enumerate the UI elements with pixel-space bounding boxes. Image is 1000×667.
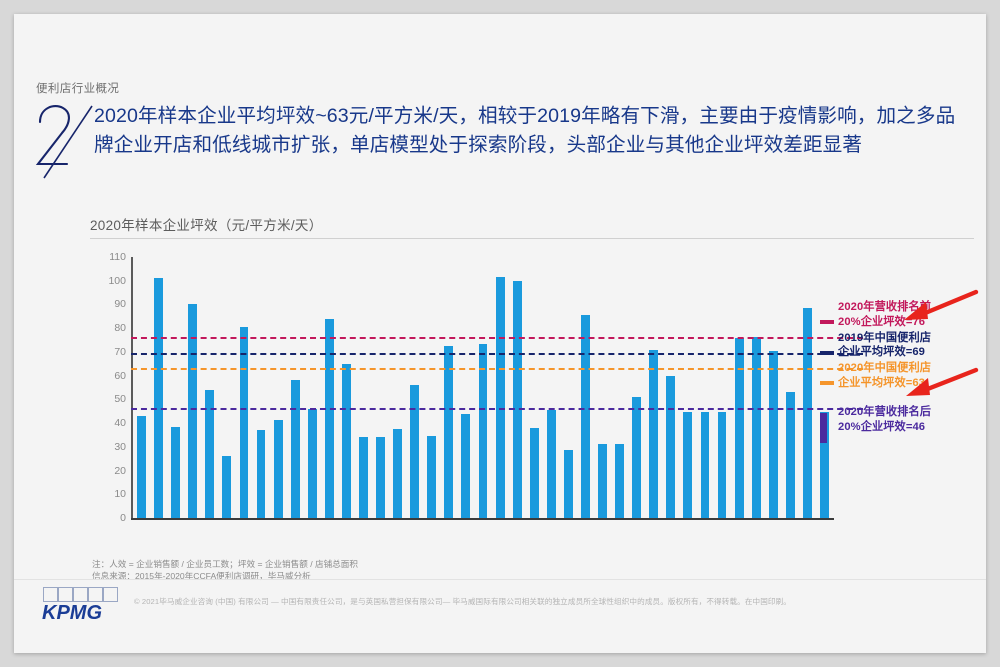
reference-line — [131, 408, 863, 410]
bar — [615, 444, 624, 518]
bar — [649, 350, 658, 518]
bar — [325, 319, 334, 518]
bar — [444, 346, 453, 518]
bar — [410, 385, 419, 518]
legend-marker-icon — [820, 320, 834, 324]
bar — [359, 437, 368, 518]
bar — [786, 392, 795, 518]
legend-label-line1: 2019年中国便利店 — [838, 331, 986, 346]
bar — [427, 436, 436, 518]
legend-label-line2: 企业平均坪效=69 — [838, 345, 986, 360]
footer-divider — [14, 579, 986, 580]
bar — [530, 428, 539, 518]
annotation-arrow-top — [894, 288, 980, 322]
kpmg-logo: KPMG — [42, 586, 126, 622]
legend-label: 2019年中国便利店企业平均坪效=69 — [838, 331, 986, 361]
bar — [632, 397, 641, 518]
bar — [666, 376, 675, 518]
bar-series — [133, 257, 833, 518]
y-tick-label: 10 — [92, 488, 126, 500]
bar — [718, 412, 727, 518]
slide-canvas: 便利店行业概况 2020年样本企业平均坪效~63元/平方米/天，相较于2019年… — [14, 14, 986, 653]
bar — [769, 351, 778, 518]
y-tick-label: 100 — [92, 275, 126, 287]
bar — [581, 315, 590, 518]
bar — [479, 344, 488, 518]
y-tick-label: 40 — [92, 417, 126, 429]
bar — [342, 364, 351, 518]
bar — [154, 278, 163, 518]
slide-kicker: 便利店行业概况 — [36, 80, 119, 96]
legend-item: 2019年中国便利店企业平均坪效=69 — [820, 331, 986, 361]
legend-item: 2020年营收排名后20%企业坪效=46 — [820, 405, 986, 435]
y-tick-label: 60 — [92, 370, 126, 382]
title-divider — [90, 238, 974, 239]
bar — [171, 427, 180, 518]
bar — [393, 429, 402, 518]
y-axis-ticks: 0102030405060708090100110 — [90, 250, 126, 518]
bar — [752, 337, 761, 519]
bar — [701, 412, 710, 518]
bar — [735, 338, 744, 518]
y-tick-label: 90 — [92, 298, 126, 310]
bar — [308, 409, 317, 518]
page-title: 2020年样本企业平均坪效~63元/平方米/天，相较于2019年略有下滑，主要由… — [94, 102, 974, 159]
bar — [683, 412, 692, 518]
reference-line — [131, 368, 863, 370]
legend-marker-icon — [820, 351, 834, 355]
bar — [222, 456, 231, 518]
legend-label: 2020年营收排名后20%企业坪效=46 — [838, 405, 986, 435]
y-tick-label: 20 — [92, 465, 126, 477]
bar — [274, 420, 283, 518]
footnote-line-2: 信息来源：2015年-2020年CCFA便利店调研，毕马威分析 — [92, 571, 358, 583]
y-tick-label: 0 — [92, 512, 126, 524]
y-tick-label: 30 — [92, 441, 126, 453]
reference-line — [131, 353, 863, 355]
bar — [137, 416, 146, 518]
bar — [291, 380, 300, 518]
bar — [598, 444, 607, 518]
bar — [803, 308, 812, 518]
bar — [376, 437, 385, 518]
bar — [257, 430, 266, 518]
footnote-line-1: 注：人效 = 企业销售额 / 企业员工数；坪效 = 企业销售额 / 店铺总面积 — [92, 559, 358, 571]
bar — [564, 450, 573, 518]
legend-label-line1: 2020年营收排名后 — [838, 405, 986, 420]
bar — [513, 281, 522, 518]
legend-label-line2: 20%企业坪效=46 — [838, 420, 986, 435]
y-tick-label: 50 — [92, 393, 126, 405]
y-tick-label: 110 — [92, 251, 126, 263]
copyright-text: © 2021毕马威企业咨询 (中国) 有限公司 — 中国有限责任公司，是与英国私… — [134, 596, 974, 607]
bar — [547, 410, 556, 518]
bar — [496, 277, 505, 518]
x-axis-line — [131, 518, 834, 520]
reference-line — [131, 337, 863, 339]
chart-title: 2020年样本企业坪效（元/平方米/天） — [90, 214, 323, 234]
bar — [240, 327, 249, 518]
bar — [461, 414, 470, 518]
legend-marker-icon — [820, 381, 834, 385]
y-tick-label: 70 — [92, 346, 126, 358]
legend-marker-icon — [820, 413, 827, 443]
kpmg-wordmark: KPMG — [42, 602, 102, 622]
annotation-arrow-bottom — [898, 366, 980, 398]
y-tick-label: 80 — [92, 322, 126, 334]
